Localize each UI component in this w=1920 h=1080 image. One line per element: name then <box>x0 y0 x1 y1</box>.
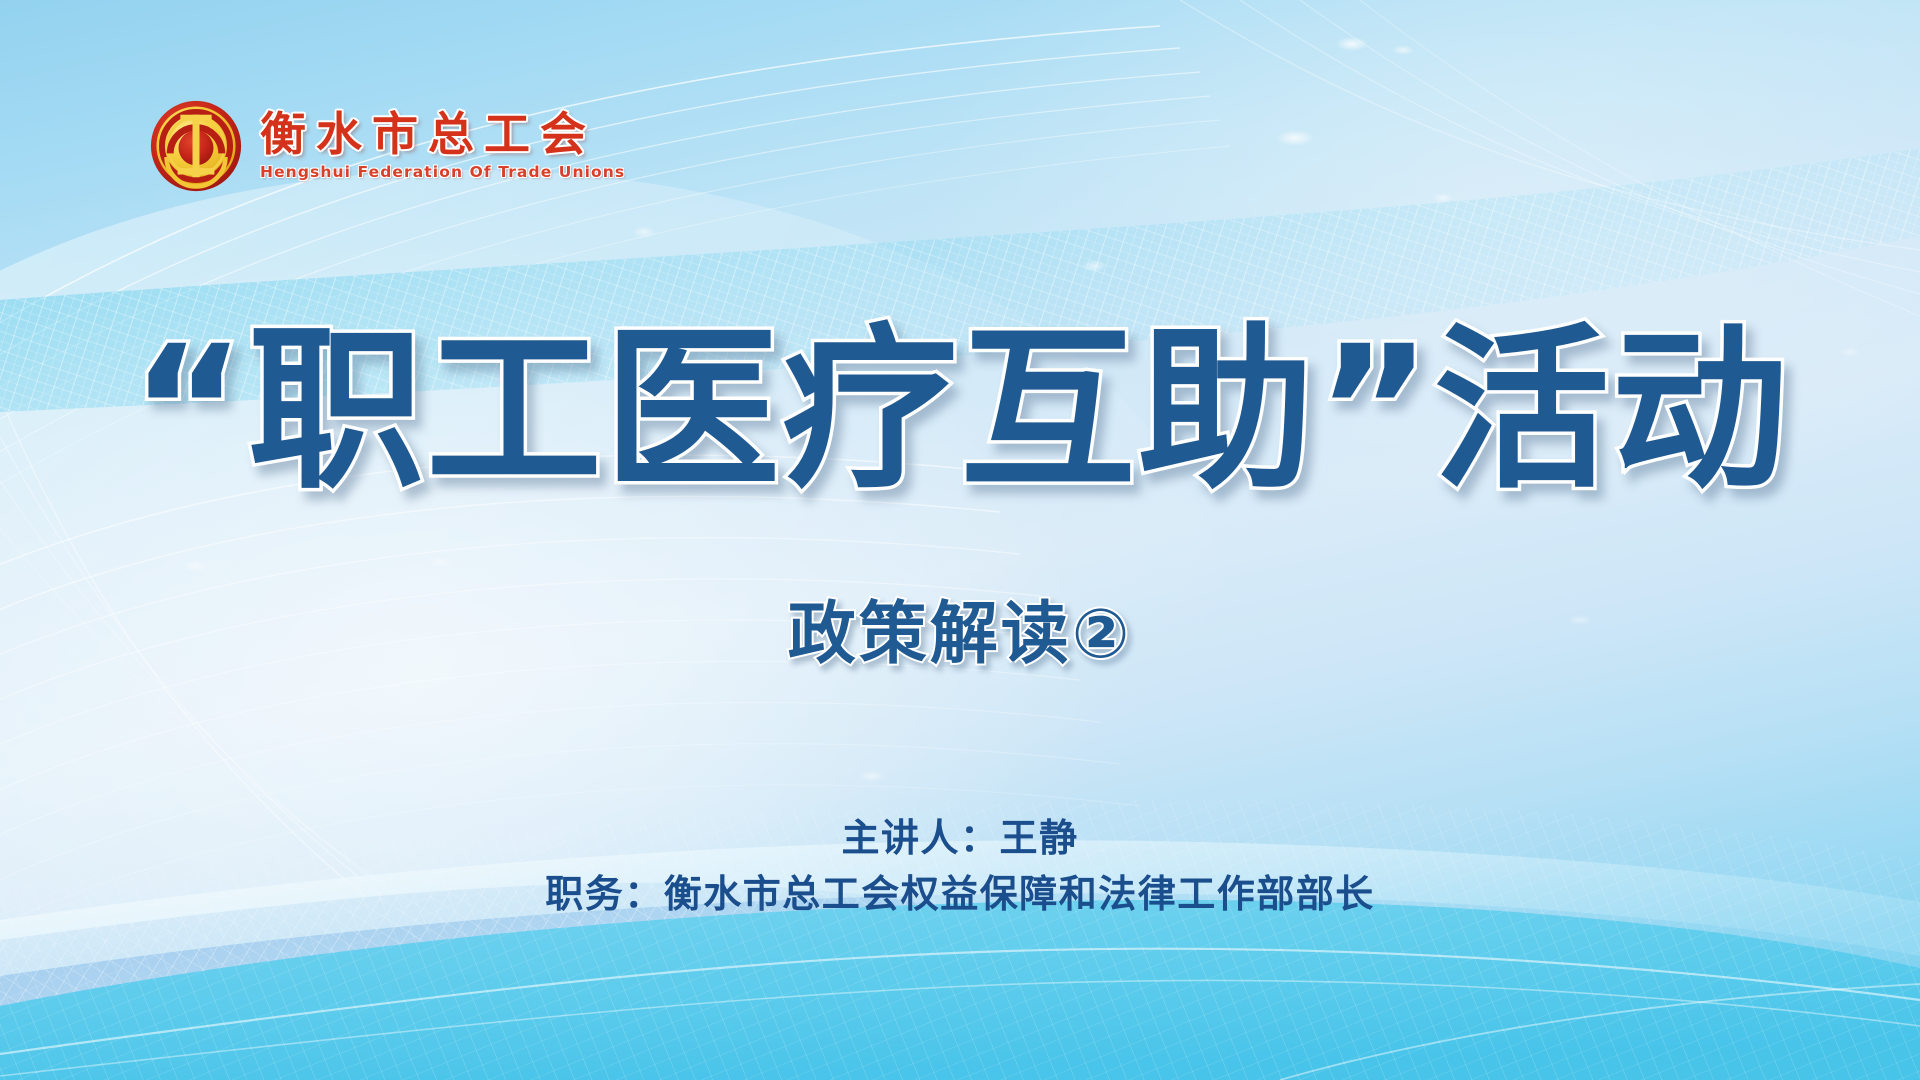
presenter-position-line: 职务：衡水市总工会权益保障和法律工作部部长 <box>0 866 1920 922</box>
title-slide: 衡水市总工会 Hengshui Federation Of Trade Unio… <box>0 0 1920 1080</box>
slide-subtitle: 政策解读② <box>0 578 1920 677</box>
acftu-emblem-icon <box>150 100 242 192</box>
logo-text-group: 衡水市总工会 Hengshui Federation Of Trade Unio… <box>260 111 625 182</box>
logo-organization-name-en: Hengshui Federation Of Trade Unions <box>260 163 625 181</box>
logo-organization-name-cn: 衡水市总工会 <box>260 111 625 159</box>
presenter-info: 主讲人：王静 职务：衡水市总工会权益保障和法律工作部部长 <box>0 810 1920 922</box>
organization-logo: 衡水市总工会 Hengshui Federation Of Trade Unio… <box>150 100 625 192</box>
slide-main-title: “职工医疗互助”活动 <box>0 318 1920 505</box>
presenter-speaker-line: 主讲人：王静 <box>0 810 1920 866</box>
